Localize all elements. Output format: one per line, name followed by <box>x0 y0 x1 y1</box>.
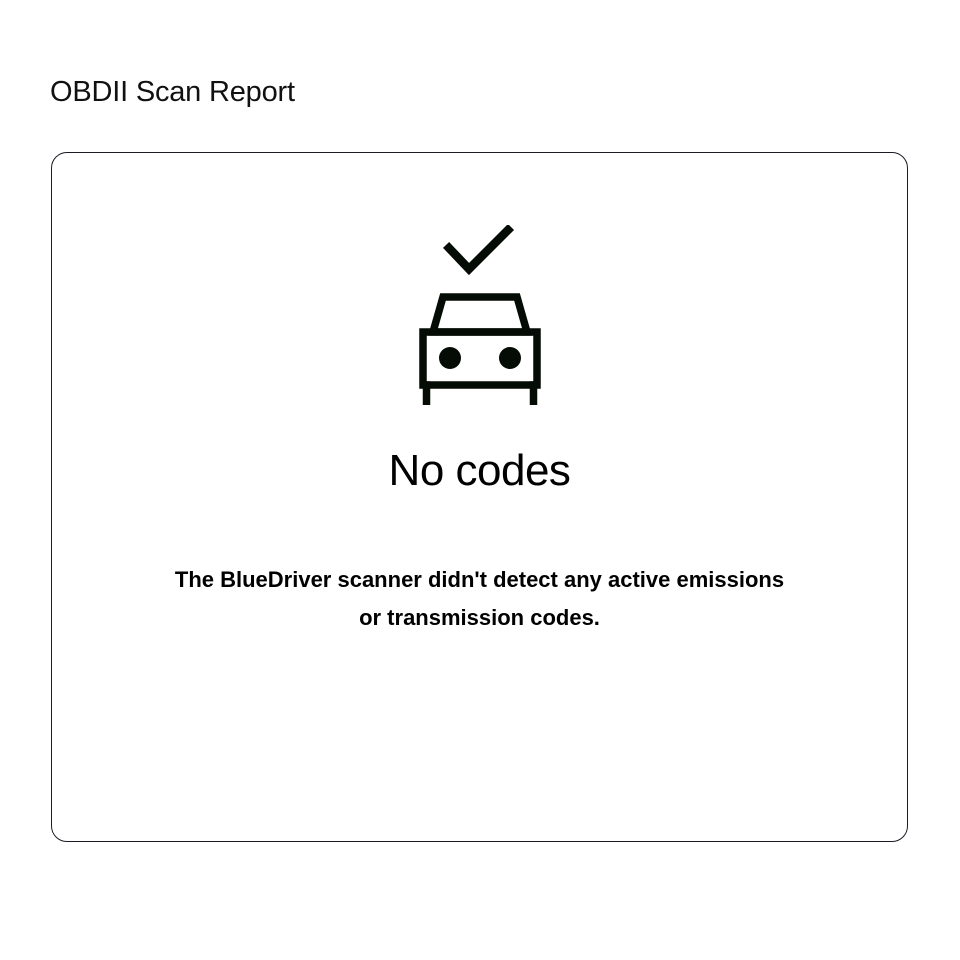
status-headline: No codes <box>389 447 571 495</box>
obdii-scan-report-page: OBDII Scan Report N <box>0 0 960 960</box>
car-with-checkmark-icon <box>400 225 560 405</box>
page-title: OBDII Scan Report <box>50 75 295 110</box>
status-description: The BlueDriver scanner didn't detect any… <box>170 561 790 637</box>
scan-result-card: No codes The BlueDriver scanner didn't d… <box>51 152 908 842</box>
scan-result-content: No codes The BlueDriver scanner didn't d… <box>52 153 907 659</box>
